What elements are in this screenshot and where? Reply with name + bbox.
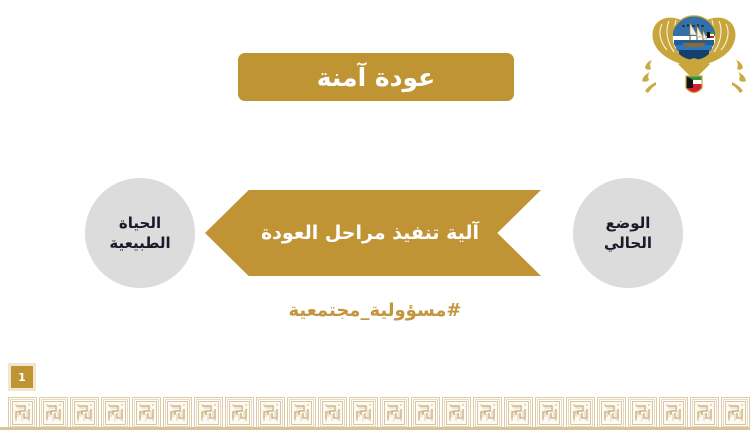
border-knot-tile bbox=[565, 390, 596, 430]
border-knot-tile bbox=[348, 390, 379, 430]
border-knot-tile bbox=[441, 390, 472, 430]
border-knot-tile bbox=[317, 390, 348, 430]
border-knot-tile bbox=[379, 390, 410, 430]
page-number-badge: 1 bbox=[8, 363, 36, 391]
node-circle-right-line1: الوضع bbox=[606, 214, 651, 232]
node-circle-natural-life: الحياة الطبيعية bbox=[85, 178, 195, 288]
border-knot-tile bbox=[100, 390, 131, 430]
node-circle-left-line1: الحياة bbox=[119, 214, 161, 232]
border-knot-tile bbox=[596, 390, 627, 430]
border-knot-tile bbox=[131, 390, 162, 430]
border-knot-tile bbox=[286, 390, 317, 430]
slide-title-banner: عودة آمنة bbox=[238, 53, 514, 101]
border-knot-tile bbox=[534, 390, 565, 430]
border-tile-strip bbox=[0, 390, 750, 430]
border-knot-tile bbox=[627, 390, 658, 430]
decorative-bottom-border bbox=[0, 386, 750, 430]
page-title: عودة آمنة bbox=[317, 65, 435, 90]
node-circle-current-situation: الوضع الحالي bbox=[573, 178, 683, 288]
center-chevron-banner: آلية تنفيذ مراحل العودة bbox=[205, 190, 541, 276]
border-knot-tile bbox=[689, 390, 720, 430]
border-knot-tile bbox=[472, 390, 503, 430]
border-knot-tile bbox=[658, 390, 689, 430]
slide-canvas: عودة آمنة الحياة الطبيعية آلية تنفيذ مرا… bbox=[0, 0, 750, 430]
center-chevron-label: آلية تنفيذ مراحل العودة bbox=[261, 222, 479, 244]
node-circle-left-label: الحياة الطبيعية bbox=[101, 213, 178, 254]
page-number-label: 1 bbox=[18, 372, 26, 383]
border-knot-tile bbox=[7, 390, 38, 430]
node-circle-right-label: الوضع الحالي bbox=[596, 213, 660, 254]
border-knot-tile bbox=[38, 390, 69, 430]
border-knot-tile bbox=[69, 390, 100, 430]
border-knot-tile bbox=[224, 390, 255, 430]
kuwait-council-of-ministers-emblem-icon bbox=[640, 2, 748, 100]
node-circle-left-line2: الطبيعية bbox=[109, 234, 170, 252]
node-circle-right-line2: الحالي bbox=[604, 234, 652, 252]
border-knot-tile bbox=[503, 390, 534, 430]
border-knot-tile bbox=[410, 390, 441, 430]
border-knot-tile bbox=[162, 390, 193, 430]
border-knot-tile bbox=[720, 390, 750, 430]
hashtag-text: #مسؤولية_مجتمعية bbox=[0, 300, 750, 321]
border-knot-tile bbox=[255, 390, 286, 430]
border-knot-tile bbox=[193, 390, 224, 430]
